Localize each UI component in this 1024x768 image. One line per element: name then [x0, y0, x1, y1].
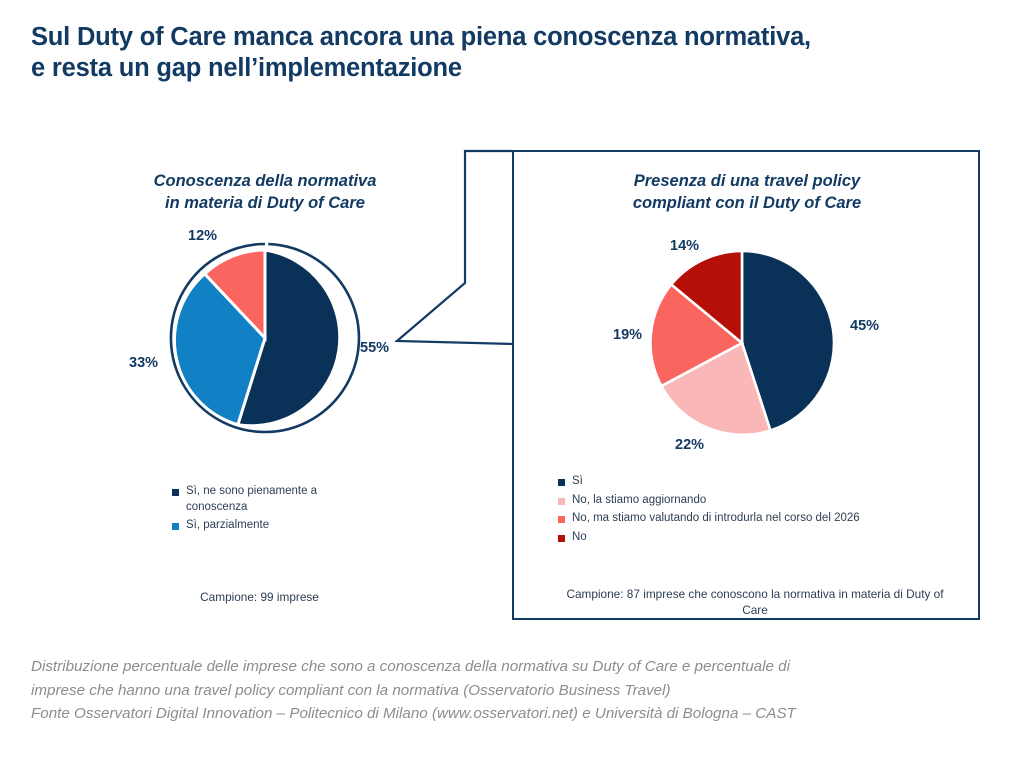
legend-swatch-icon [558, 498, 565, 505]
left-chart-title-line-2: in materia di Duty of Care [110, 192, 420, 214]
legend-item[interactable]: Sì, parzialmente [172, 518, 372, 534]
right-pct-navy: 45% [850, 318, 879, 334]
legend-swatch-icon [172, 489, 179, 496]
legend-item-label: No [572, 530, 587, 546]
page-title-line-2: e resta un gap nell’implementazione [31, 53, 991, 84]
right-pct-dark-red: 14% [670, 238, 699, 254]
legend-item[interactable]: No, ma stiamo valutando di introdurla ne… [558, 511, 958, 527]
right-sample-note: Campione: 87 imprese che conoscono la no… [560, 587, 950, 619]
legend-swatch-icon [558, 516, 565, 523]
footer-line-1: Distribuzione percentuale delle imprese … [31, 655, 1006, 679]
page-title: Sul Duty of Care manca ancora una piena … [31, 22, 991, 84]
right-pct-salmon: 19% [613, 327, 642, 343]
slide-canvas: Sul Duty of Care manca ancora una piena … [0, 0, 1024, 768]
legend-item-label: Sì, ne sono pienamente a conoscenza [186, 484, 372, 515]
left-legend: Sì, ne sono pienamente a conoscenza Sì, … [172, 484, 372, 537]
left-chart-panel: Conoscenza della normativa in materia di… [110, 170, 420, 215]
right-chart-title-line-2: compliant con il Duty of Care [582, 192, 912, 214]
left-chart-title-line-1: Conoscenza della normativa [110, 170, 420, 192]
right-pct-light-pink: 22% [675, 437, 704, 453]
right-legend: Sì No, la stiamo aggiornando No, ma stia… [558, 474, 958, 548]
left-pie-chart [155, 228, 375, 448]
legend-swatch-icon [172, 523, 179, 530]
legend-swatch-icon [558, 479, 565, 486]
legend-item-label: Sì [572, 474, 583, 490]
right-sample-note-line-1: Campione: 87 imprese che conoscono la no… [566, 587, 847, 601]
legend-item[interactable]: No, la stiamo aggiornando [558, 493, 958, 509]
right-chart-title-line-1: Presenza di una travel policy [582, 170, 912, 192]
left-pie-svg [155, 228, 375, 448]
right-pie-chart [648, 249, 836, 437]
right-pie-svg [648, 249, 836, 437]
legend-item[interactable]: Sì [558, 474, 958, 490]
left-pct-navy: 55% [360, 340, 389, 356]
left-chart-title: Conoscenza della normativa in materia di… [110, 170, 420, 215]
legend-item-label: Sì, parzialmente [186, 518, 269, 534]
footer-line-2: imprese che hanno una travel policy comp… [31, 679, 1006, 703]
footer-caption: Distribuzione percentuale delle imprese … [31, 655, 1006, 726]
legend-item[interactable]: No [558, 530, 958, 546]
left-pct-blue: 33% [129, 355, 158, 371]
page-title-line-1: Sul Duty of Care manca ancora una piena … [31, 22, 991, 53]
right-chart-title: Presenza di una travel policy compliant … [582, 170, 912, 215]
legend-item[interactable]: Sì, ne sono pienamente a conoscenza [172, 484, 372, 515]
footer-line-3: Fonte Osservatori Digital Innovation – P… [31, 702, 1006, 726]
left-sample-note: Campione: 99 imprese [132, 590, 387, 606]
left-pct-salmon: 12% [188, 228, 217, 244]
legend-item-label: No, la stiamo aggiornando [572, 493, 706, 509]
legend-swatch-icon [558, 535, 565, 542]
legend-item-label: No, ma stiamo valutando di introdurla ne… [572, 511, 860, 527]
right-chart-panel: Presenza di una travel policy compliant … [582, 170, 912, 215]
